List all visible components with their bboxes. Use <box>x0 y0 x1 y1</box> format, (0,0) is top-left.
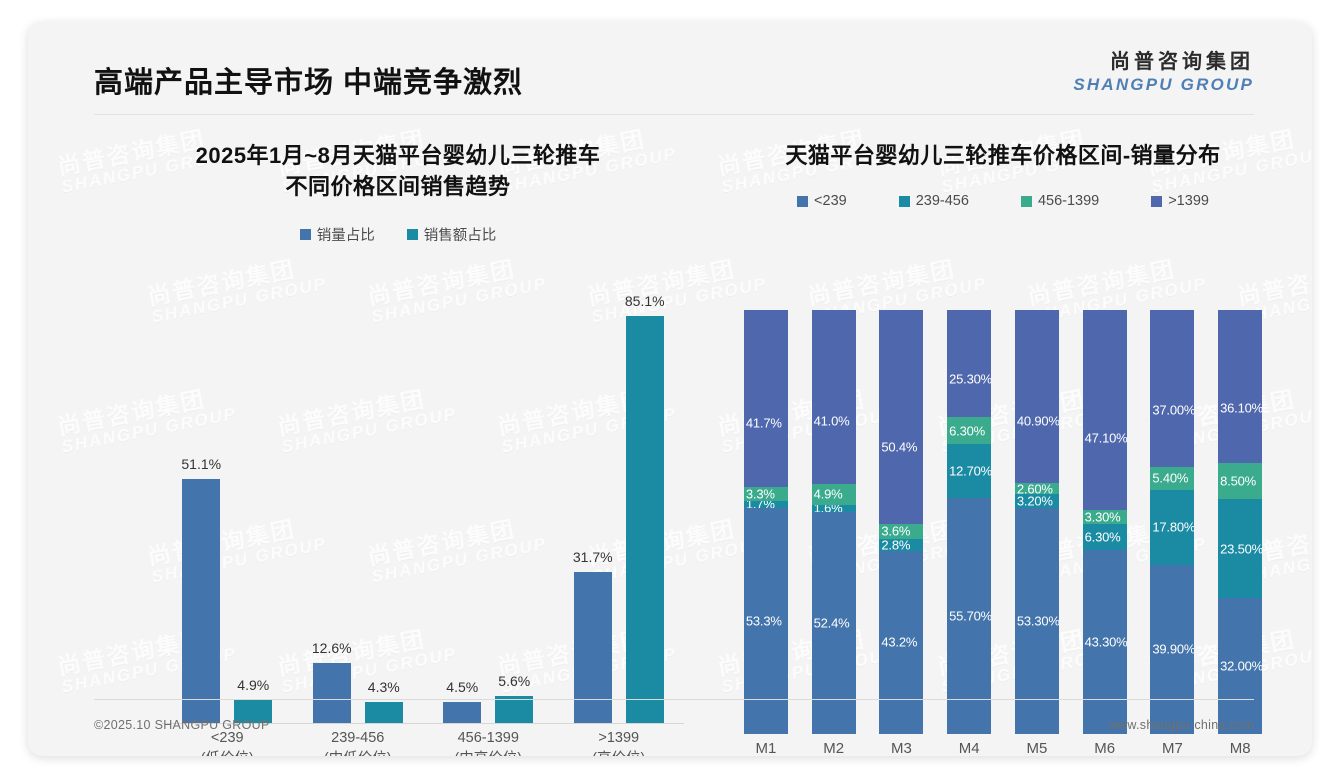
stack-segment-label: 3.3% <box>746 487 775 501</box>
stack-segment[interactable]: 6.30% <box>947 417 991 444</box>
left-chart-panel: 2025年1月~8月天猫平台婴幼儿三轮推车 不同价格区间销售趋势 销量占比销售额… <box>88 140 708 720</box>
stack-segment[interactable]: 43.30% <box>1083 550 1127 734</box>
bar[interactable] <box>313 663 351 723</box>
x-axis-label: M1 <box>732 740 800 756</box>
stack-segment-label: 6.30% <box>1085 530 1121 545</box>
bar-value-label: 4.5% <box>446 679 478 695</box>
bar[interactable] <box>365 702 403 723</box>
stack-segment-label: 1.7% <box>746 501 775 508</box>
stacked-bar-column: 37.00%5.40%17.80%39.90% <box>1139 310 1207 734</box>
stack-segment-label: 37.00% <box>1152 403 1194 418</box>
stack-segment-label: 25.30% <box>949 371 991 386</box>
stack-segment-label: 12.70% <box>949 463 991 478</box>
stack-segment[interactable]: 50.4% <box>879 310 923 524</box>
stack-segment-label: 5.40% <box>1152 471 1188 486</box>
footer-website: www.shangpu-china.com <box>1109 718 1254 732</box>
stack-segment[interactable]: 17.80% <box>1150 490 1194 565</box>
stacked-bar-column: 36.10%8.50%23.50%32.00% <box>1206 310 1274 734</box>
stack-segment-label: 23.50% <box>1220 541 1262 556</box>
stack-segment-label: 32.00% <box>1220 659 1262 674</box>
stack-segment-label: 3.20% <box>1017 494 1053 508</box>
left-chart-title-line1: 2025年1月~8月天猫平台婴幼儿三轮推车 <box>88 140 708 171</box>
bar-wrapper: 5.6% <box>495 696 533 723</box>
stacked-bar-column: 50.4%3.6%2.8%43.2% <box>868 310 936 734</box>
stacked-bar-column: 47.10%3.30%6.30%43.30% <box>1071 310 1139 734</box>
legend-label: 销售额占比 <box>424 224 497 245</box>
legend-swatch-icon <box>1151 196 1162 207</box>
stack-segment[interactable]: 3.30% <box>1083 510 1127 524</box>
stack-segment-label: 2.60% <box>1017 483 1053 494</box>
left-chart-legend: 销量占比销售额占比 <box>88 224 708 245</box>
legend-label: >1399 <box>1168 193 1209 209</box>
stacked-bar-column: 25.30%6.30%12.70%55.70% <box>935 310 1003 734</box>
stack-segment-label: 55.70% <box>949 608 991 623</box>
stack-segment[interactable]: 40.90% <box>1015 310 1059 483</box>
stacked-bar-column: 41.7%3.3%1.7%53.3% <box>732 310 800 734</box>
stack-segment[interactable]: 36.10% <box>1218 310 1262 463</box>
stack-segment[interactable]: 3.6% <box>879 524 923 539</box>
stacked-bar[interactable]: 40.90%2.60%3.20%53.30% <box>1015 310 1059 734</box>
stack-segment-label: 8.50% <box>1220 473 1256 488</box>
stack-segment[interactable]: 1.6% <box>812 505 856 512</box>
legend-item[interactable]: 销量占比 <box>300 224 375 245</box>
x-axis-label-range: 456-1399 <box>423 728 554 749</box>
logo-text-en: SHANGPU GROUP <box>1073 76 1254 93</box>
x-axis-label-tier: (高价位) <box>554 749 685 756</box>
bar-wrapper: 4.5% <box>443 702 481 724</box>
bar[interactable] <box>443 702 481 724</box>
right-chart-title: 天猫平台婴幼儿三轮推车价格区间-销量分布 <box>718 140 1288 171</box>
legend-item[interactable]: 销售额占比 <box>407 224 497 245</box>
bar-value-label: 5.6% <box>498 673 530 689</box>
stack-segment[interactable]: 32.00% <box>1218 598 1262 734</box>
bar[interactable] <box>495 696 533 723</box>
x-axis-label-tier: (中低价位) <box>293 749 424 756</box>
stack-segment-label: 39.90% <box>1152 642 1194 657</box>
stacked-bar[interactable]: 36.10%8.50%23.50%32.00% <box>1218 310 1262 734</box>
legend-item[interactable]: >1399 <box>1151 193 1209 209</box>
stack-segment[interactable]: 12.70% <box>947 444 991 498</box>
stack-segment[interactable]: 2.8% <box>879 539 923 551</box>
right-chart-stacks: 41.7%3.3%1.7%53.3%41.0%4.9%1.6%52.4%50.4… <box>732 310 1274 734</box>
bar-value-label: 4.3% <box>368 679 400 695</box>
bar-value-label: 31.7% <box>573 549 613 565</box>
stack-segment-label: 3.30% <box>1085 510 1121 524</box>
legend-swatch-icon <box>899 196 910 207</box>
stack-segment[interactable]: 6.30% <box>1083 524 1127 551</box>
bar-wrapper: 4.3% <box>365 702 403 723</box>
stack-segment[interactable]: 37.00% <box>1150 310 1194 467</box>
legend-label: 456-1399 <box>1038 193 1099 209</box>
bar-value-label: 51.1% <box>181 456 221 472</box>
stack-segment-label: 6.30% <box>949 423 985 438</box>
x-axis-label-tier: (低价位) <box>162 749 293 756</box>
left-chart-title: 2025年1月~8月天猫平台婴幼儿三轮推车 不同价格区间销售趋势 <box>88 140 708 202</box>
bar[interactable] <box>626 316 664 723</box>
stack-segment[interactable]: 47.10% <box>1083 310 1127 510</box>
bar[interactable] <box>574 572 612 723</box>
left-chart-bar-groups: 51.1%4.9%12.6%4.3%4.5%5.6%31.7%85.1% <box>162 280 684 723</box>
legend-swatch-icon <box>1021 196 1032 207</box>
bar-group: 51.1%4.9% <box>162 280 293 723</box>
bar-group: 31.7%85.1% <box>554 280 685 723</box>
stack-segment[interactable]: 4.9% <box>812 484 856 505</box>
stacked-bar-column: 40.90%2.60%3.20%53.30% <box>1003 310 1071 734</box>
x-axis-label: 456-1399(中高价位) <box>423 728 554 756</box>
logo-text-cn: 尚普咨询集团 <box>1073 52 1254 72</box>
x-axis-label-range: 239-456 <box>293 728 424 749</box>
stack-segment-label: 40.90% <box>1017 413 1059 428</box>
legend-item[interactable]: 456-1399 <box>1021 193 1099 209</box>
stack-segment-label: 53.3% <box>746 613 782 628</box>
legend-label: 239-456 <box>916 193 969 209</box>
legend-label: 销量占比 <box>317 224 375 245</box>
page-title: 高端产品主导市场 中端竞争激烈 <box>94 59 523 101</box>
x-axis-label: M7 <box>1139 740 1207 756</box>
left-chart-title-line2: 不同价格区间销售趋势 <box>88 171 708 202</box>
stack-segment-label: 50.4% <box>881 439 917 454</box>
stacked-bar[interactable]: 37.00%5.40%17.80%39.90% <box>1150 310 1194 734</box>
stack-segment-label: 41.7% <box>746 416 782 431</box>
left-chart-plot: 51.1%4.9%12.6%4.3%4.5%5.6%31.7%85.1% <23… <box>106 280 690 756</box>
company-logo: 尚普咨询集团 SHANGPU GROUP <box>1073 52 1254 93</box>
footer-copyright: ©2025.10 SHANGPU GROUP <box>94 718 270 732</box>
x-axis-label-tier: (中高价位) <box>423 749 554 756</box>
stack-segment-label: 41.0% <box>814 414 850 429</box>
right-chart-panel: 天猫平台婴幼儿三轮推车价格区间-销量分布 <239239-456456-1399… <box>718 140 1288 720</box>
x-axis-label: M4 <box>935 740 1003 756</box>
stack-segment[interactable]: 41.0% <box>812 310 856 484</box>
stack-segment[interactable]: 3.3% <box>744 487 788 501</box>
slide-header: 高端产品主导市场 中端竞争激烈 尚普咨询集团 SHANGPU GROUP <box>28 22 1312 118</box>
stack-segment-label: 53.30% <box>1017 613 1059 628</box>
legend-item[interactable]: <239 <box>797 193 847 209</box>
stack-segment[interactable]: 53.30% <box>1015 508 1059 734</box>
x-axis-label: M2 <box>800 740 868 756</box>
stack-segment[interactable]: 3.20% <box>1015 494 1059 508</box>
left-chart-x-axis-labels: <239(低价位)239-456(中低价位)456-1399(中高价位)>139… <box>162 728 684 756</box>
x-axis-label-range: >1399 <box>554 728 685 749</box>
bar-wrapper: 12.6% <box>313 663 351 723</box>
slide: 高端产品主导市场 中端竞争激烈 尚普咨询集团 SHANGPU GROUP 尚普咨… <box>28 22 1312 756</box>
stack-segment[interactable]: 43.2% <box>879 551 923 734</box>
bar-wrapper: 51.1% <box>182 479 220 723</box>
stacked-bar[interactable]: 25.30%6.30%12.70%55.70% <box>947 310 991 734</box>
stack-segment[interactable]: 41.7% <box>744 310 788 487</box>
stack-segment[interactable]: 39.90% <box>1150 565 1194 734</box>
right-chart-plot: 41.7%3.3%1.7%53.3%41.0%4.9%1.6%52.4%50.4… <box>724 270 1282 756</box>
stack-segment-label: 2.8% <box>881 539 910 551</box>
stack-segment-label: 4.9% <box>814 487 843 502</box>
stacked-bar-column: 41.0%4.9%1.6%52.4% <box>800 310 868 734</box>
bar-group: 12.6%4.3% <box>293 280 424 723</box>
stack-segment[interactable]: 5.40% <box>1150 467 1194 490</box>
header-divider <box>94 114 1254 115</box>
stack-segment-label: 17.80% <box>1152 520 1194 535</box>
x-axis-label: 239-456(中低价位) <box>293 728 424 756</box>
stack-segment-label: 43.30% <box>1085 635 1127 650</box>
stack-segment[interactable]: 2.60% <box>1015 483 1059 494</box>
stack-segment[interactable]: 52.4% <box>812 512 856 734</box>
stack-segment[interactable]: 23.50% <box>1218 499 1262 599</box>
x-axis-label: M5 <box>1003 740 1071 756</box>
legend-swatch-icon <box>797 196 808 207</box>
x-axis-label: M8 <box>1206 740 1274 756</box>
bar-value-label: 85.1% <box>625 293 665 309</box>
bar[interactable] <box>182 479 220 723</box>
stacked-bar[interactable]: 41.7%3.3%1.7%53.3% <box>744 310 788 734</box>
bar-value-label: 12.6% <box>312 640 352 656</box>
bar-wrapper: 85.1% <box>626 316 664 723</box>
x-axis-label: M6 <box>1071 740 1139 756</box>
bar-value-label: 4.9% <box>237 677 269 693</box>
stack-segment[interactable]: 53.3% <box>744 508 788 734</box>
legend-swatch-icon <box>300 229 311 240</box>
legend-swatch-icon <box>407 229 418 240</box>
x-axis-label: >1399(高价位) <box>554 728 685 756</box>
x-axis-label: M3 <box>868 740 936 756</box>
stack-segment-label: 1.6% <box>814 505 843 512</box>
bar-group: 4.5%5.6% <box>423 280 554 723</box>
stack-segment-label: 36.10% <box>1220 400 1262 415</box>
stacked-bar[interactable]: 47.10%3.30%6.30%43.30% <box>1083 310 1127 734</box>
bar-wrapper: 31.7% <box>574 572 612 723</box>
stack-segment-label: 43.2% <box>881 635 917 650</box>
stack-segment-label: 52.4% <box>814 615 850 630</box>
stacked-bar[interactable]: 50.4%3.6%2.8%43.2% <box>879 310 923 734</box>
stack-segment[interactable]: 1.7% <box>744 501 788 508</box>
stacked-bar[interactable]: 41.0%4.9%1.6%52.4% <box>812 310 856 734</box>
legend-label: <239 <box>814 193 847 209</box>
stack-segment-label: 47.10% <box>1085 430 1127 445</box>
x-axis-label: <239(低价位) <box>162 728 293 756</box>
stack-segment[interactable]: 8.50% <box>1218 463 1262 499</box>
legend-item[interactable]: 239-456 <box>899 193 969 209</box>
footer-divider <box>94 699 1254 700</box>
right-chart-legend: <239239-456456-1399>1399 <box>718 193 1288 209</box>
stack-segment[interactable]: 25.30% <box>947 310 991 417</box>
stack-segment-label: 3.6% <box>881 524 910 539</box>
right-chart-x-axis-labels: M1M2M3M4M5M6M7M8 <box>732 740 1274 756</box>
